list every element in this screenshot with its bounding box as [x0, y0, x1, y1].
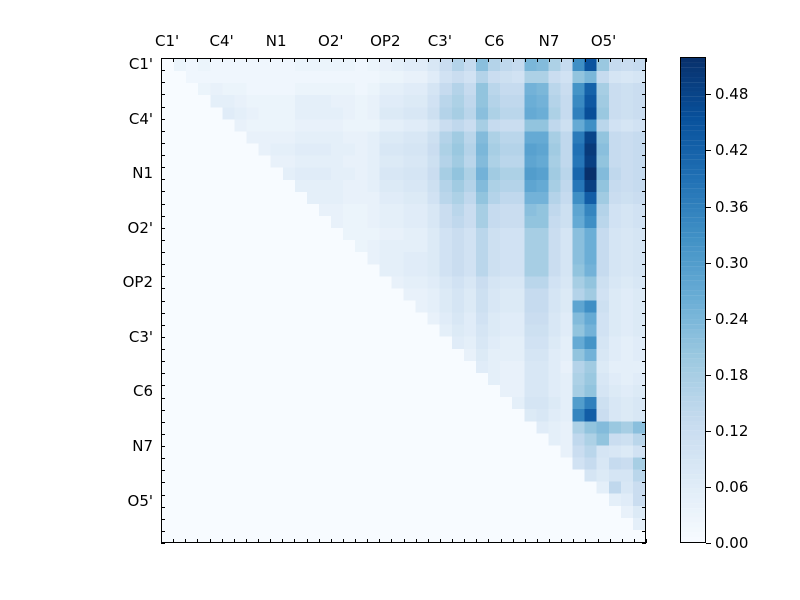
x-tick-label: O5' — [591, 32, 616, 50]
colorbar-tick — [706, 543, 711, 544]
colorbar-tick — [706, 487, 711, 488]
colorbar-tick-label: 0.06 — [715, 478, 748, 496]
colorbar-tick — [706, 431, 711, 432]
figure: C1'C4'N1O2'OP2C3'C6N7O5' C1'C4'N1O2'OP2C… — [0, 0, 800, 600]
x-tick-label: C1' — [155, 32, 179, 50]
colorbar-tick-label: 0.30 — [715, 254, 748, 272]
x-tick-label: N7 — [539, 32, 560, 50]
colorbar-tick-label: 0.36 — [715, 198, 748, 216]
colorbar-tick-label: 0.42 — [715, 141, 748, 159]
colorbar-tick — [706, 207, 711, 208]
y-tick-label: C1' — [103, 55, 153, 73]
colorbar[interactable] — [680, 57, 706, 543]
colorbar-tick — [706, 150, 711, 151]
colorbar-tick-label: 0.12 — [715, 422, 748, 440]
colorbar-tick — [706, 263, 711, 264]
colorbar-tick-label: 0.00 — [715, 534, 748, 552]
x-tick-label: C4' — [210, 32, 234, 50]
y-tick-label: N1 — [103, 164, 153, 182]
x-tick-label: O2' — [318, 32, 343, 50]
colorbar-tick — [706, 94, 711, 95]
y-tick-label: O5' — [103, 492, 153, 510]
colorbar-tick-label: 0.18 — [715, 366, 748, 384]
x-tick-label: N1 — [266, 32, 287, 50]
y-tick-label: C4' — [103, 110, 153, 128]
x-tick-label: C6 — [484, 32, 504, 50]
colorbar-tick — [706, 375, 711, 376]
heatmap-cells — [162, 59, 645, 542]
heatmap-axes[interactable] — [161, 58, 646, 543]
y-tick-label: C6 — [103, 382, 153, 400]
y-tick-label: OP2 — [103, 273, 153, 291]
colorbar-tick — [706, 319, 711, 320]
x-tick-label: C3' — [428, 32, 452, 50]
y-tick-label: O2' — [103, 219, 153, 237]
colorbar-gradient — [681, 58, 705, 542]
colorbar-tick-label: 0.24 — [715, 310, 748, 328]
x-tick-label: OP2 — [370, 32, 400, 50]
y-tick-label: N7 — [103, 437, 153, 455]
colorbar-tick-label: 0.48 — [715, 85, 748, 103]
y-tick-label: C3' — [103, 328, 153, 346]
